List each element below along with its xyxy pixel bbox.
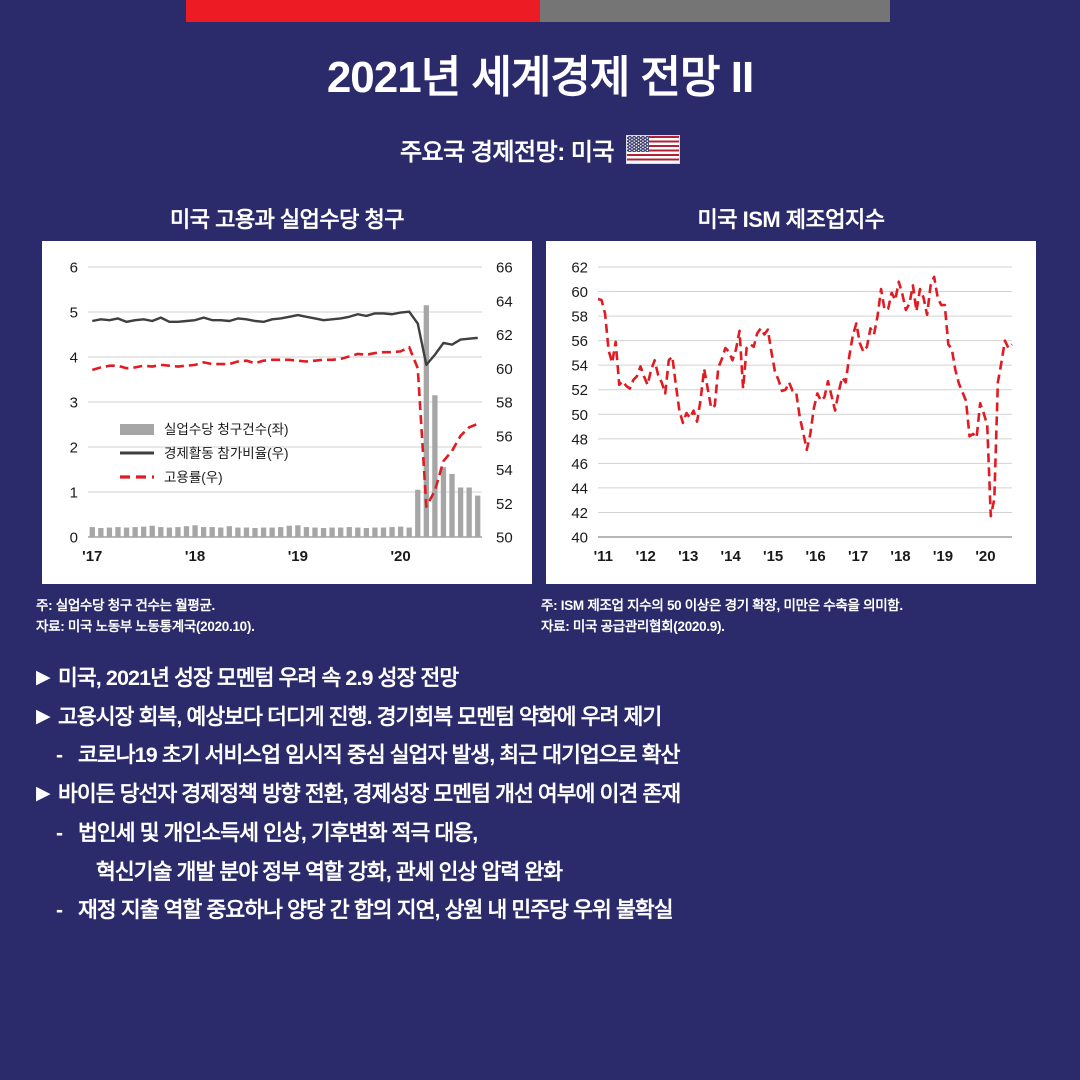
x-axis-tick: '13 xyxy=(678,548,698,565)
y-axis-tick: 58 xyxy=(571,309,588,326)
y-axis-right-tick: 64 xyxy=(496,293,513,310)
y-axis-right-tick: 62 xyxy=(496,327,513,344)
y-axis-tick: 44 xyxy=(571,480,588,497)
claims-bar xyxy=(107,528,112,537)
claims-bar xyxy=(304,527,309,537)
claims-bar xyxy=(90,527,95,537)
y-axis-right-tick: 54 xyxy=(496,462,513,479)
top-accent-bar-gray xyxy=(540,0,890,22)
x-axis-tick: '20 xyxy=(390,548,410,565)
bullet-text: 미국, 2021년 성장 모멘텀 우려 속 2.9 성장 전망 xyxy=(58,668,1046,690)
y-axis-tick: 46 xyxy=(571,456,588,473)
bullet-triangle-icon: ▶ xyxy=(36,707,58,727)
bullet-text: 재정 지출 역할 중요하나 양당 간 합의 지연, 상원 내 민주당 우위 불확… xyxy=(78,900,1046,922)
bullet-item: 혁신기술 개발 분야 정부 역할 강화, 관세 인상 압력 완화 xyxy=(36,862,1046,884)
claims-bar xyxy=(158,527,163,537)
y-axis-tick: 42 xyxy=(571,505,588,522)
y-axis-right-tick: 58 xyxy=(496,395,513,412)
y-axis-right-tick: 56 xyxy=(496,428,513,445)
y-axis-left-tick: 5 xyxy=(70,305,78,322)
claims-bar xyxy=(132,527,137,537)
y-axis-tick: 62 xyxy=(571,260,588,277)
y-axis-left-tick: 1 xyxy=(70,485,78,502)
y-axis-tick: 56 xyxy=(571,333,588,350)
bullet-item: -재정 지출 역할 중요하나 양당 간 합의 지연, 상원 내 민주당 우위 불… xyxy=(36,900,1046,922)
legend-label: 실업수당 청구건수(좌) xyxy=(164,422,289,437)
y-axis-left-tick: 4 xyxy=(70,350,78,367)
claims-bar xyxy=(227,526,232,537)
claims-bar xyxy=(449,474,454,537)
claims-bar xyxy=(415,490,420,537)
page-subtitle: 주요국 경제전망: 미국 xyxy=(400,132,614,167)
claims-bar xyxy=(329,528,334,537)
claims-bar xyxy=(269,528,274,537)
bullet-item: -코로나19 초기 서비스업 임시직 중심 실업자 발생, 최근 대기업으로 확… xyxy=(36,745,1046,767)
claims-bar xyxy=(124,528,129,537)
x-axis-tick: '18 xyxy=(185,548,205,565)
bullet-text: 바이든 당선자 경제정책 방향 전환, 경제성장 모멘텀 개선 여부에 이견 존… xyxy=(58,784,1046,806)
bullet-dash-icon: - xyxy=(56,823,78,845)
legend-swatch-bar xyxy=(120,424,154,435)
claims-bar xyxy=(252,528,257,537)
y-axis-tick: 40 xyxy=(571,530,588,547)
claims-bar xyxy=(364,528,369,537)
bullet-dash-icon: - xyxy=(56,900,78,922)
claims-bar xyxy=(278,527,283,537)
y-axis-left-tick: 2 xyxy=(70,440,78,457)
claims-bar xyxy=(141,527,146,537)
claims-bar xyxy=(175,527,180,537)
claims-bar xyxy=(475,496,480,537)
y-axis-tick: 50 xyxy=(571,407,588,424)
chart-panel-employment: 0123456505254565860626466'17'18'19'20실업수… xyxy=(42,241,532,584)
chart-notes-left: 주: 실업수당 청구 건수는 월평균. 자료: 미국 노동부 노동통계국(202… xyxy=(36,596,536,638)
note-line: 자료: 미국 공급관리협회(2020.9). xyxy=(541,617,1041,638)
bullet-item: -법인세 및 개인소득세 인상, 기후변화 적극 대응, xyxy=(36,823,1046,845)
x-axis-tick: '19 xyxy=(288,548,308,565)
chart-panel-ism: 404244464850525456586062'11'12'13'14'15'… xyxy=(546,241,1036,584)
y-axis-tick: 52 xyxy=(571,382,588,399)
claims-bar xyxy=(407,528,412,537)
bullet-triangle-icon: ▶ xyxy=(36,668,58,688)
ism-manufacturing-chart: 404244464850525456586062'11'12'13'14'15'… xyxy=(546,241,1036,584)
claims-bar xyxy=(201,527,206,537)
claims-bar xyxy=(441,467,446,537)
x-axis-tick: '11 xyxy=(594,548,613,565)
bullet-text: 법인세 및 개인소득세 인상, 기후변화 적극 대응, xyxy=(78,823,1046,845)
note-line: 자료: 미국 노동부 노동통계국(2020.10). xyxy=(36,617,536,638)
y-axis-right-tick: 60 xyxy=(496,361,513,378)
page-title: 2021년 세계경제 전망 II xyxy=(0,54,1080,102)
claims-bar xyxy=(321,528,326,537)
chart-title-left: 미국 고용과 실업수당 청구 xyxy=(42,202,532,234)
claims-bar xyxy=(381,528,386,537)
bullet-dash-icon: - xyxy=(56,745,78,767)
legend-label: 고용률(우) xyxy=(164,470,223,485)
employment-claims-chart: 0123456505254565860626466'17'18'19'20실업수… xyxy=(42,241,532,584)
y-axis-tick: 54 xyxy=(571,358,588,375)
slide-root: 2021년 세계경제 전망 II 주요국 경제전망: 미국 미국 고용과 실업수… xyxy=(0,0,1080,1080)
y-axis-left-tick: 6 xyxy=(70,260,78,277)
claims-bar xyxy=(295,525,300,537)
x-axis-tick: '16 xyxy=(805,548,825,565)
claims-bar xyxy=(458,488,463,538)
y-axis-left-tick: 3 xyxy=(70,395,78,412)
claims-bar xyxy=(466,488,471,538)
claims-bar xyxy=(192,525,197,537)
x-axis-tick: '18 xyxy=(890,548,910,565)
claims-bar xyxy=(312,528,317,537)
legend-label: 경제활동 참가비율(우) xyxy=(164,446,289,461)
claims-bar xyxy=(355,528,360,537)
chart-notes-right: 주: ISM 제조업 지수의 50 이상은 경기 확장, 미만은 수축을 의미함… xyxy=(541,596,1041,638)
claims-bar xyxy=(372,528,377,537)
claims-bar xyxy=(287,526,292,537)
claims-bar xyxy=(150,526,155,537)
bullet-item: ▶고용시장 회복, 예상보다 더디게 진행. 경기회복 모멘텀 약화에 우려 제… xyxy=(36,707,1046,729)
x-axis-tick: '19 xyxy=(933,548,953,565)
x-axis-tick: '12 xyxy=(636,548,656,565)
claims-bar xyxy=(398,527,403,537)
chart-title-right: 미국 ISM 제조업지수 xyxy=(546,202,1036,234)
y-axis-right-tick: 66 xyxy=(496,260,513,277)
claims-bar xyxy=(244,528,249,537)
bullet-list: ▶미국, 2021년 성장 모멘텀 우려 속 2.9 성장 전망▶고용시장 회복… xyxy=(36,668,1046,939)
note-line: 주: ISM 제조업 지수의 50 이상은 경기 확장, 미만은 수축을 의미함… xyxy=(541,596,1041,617)
bullet-text: 혁신기술 개발 분야 정부 역할 강화, 관세 인상 압력 완화 xyxy=(96,862,1046,884)
claims-bar xyxy=(347,527,352,537)
x-axis-tick: '17 xyxy=(82,548,102,565)
y-axis-right-tick: 50 xyxy=(496,530,513,547)
claims-bar xyxy=(210,527,215,537)
claims-bar xyxy=(389,527,394,537)
claims-bar xyxy=(432,395,437,537)
claims-bar xyxy=(235,528,240,537)
x-axis-tick: '14 xyxy=(721,548,742,565)
top-accent-bar xyxy=(186,0,890,22)
bullet-item: ▶미국, 2021년 성장 모멘텀 우려 속 2.9 성장 전망 xyxy=(36,668,1046,690)
claims-bar xyxy=(261,528,266,537)
y-axis-right-tick: 52 xyxy=(496,496,513,513)
bullet-text: 고용시장 회복, 예상보다 더디게 진행. 경기회복 모멘텀 약화에 우려 제기 xyxy=(58,707,1046,729)
claims-bar xyxy=(218,528,223,537)
y-axis-left-tick: 0 xyxy=(70,530,78,547)
x-axis-tick: '20 xyxy=(975,548,995,565)
y-axis-tick: 60 xyxy=(571,284,588,301)
bullet-item: ▶바이든 당선자 경제정책 방향 전환, 경제성장 모멘텀 개선 여부에 이견 … xyxy=(36,784,1046,806)
subtitle-row: 주요국 경제전망: 미국 xyxy=(0,132,1080,167)
y-axis-tick: 48 xyxy=(571,431,588,448)
claims-bar xyxy=(98,528,103,537)
top-accent-bar-red xyxy=(186,0,540,22)
claims-bar xyxy=(167,528,172,537)
note-line: 주: 실업수당 청구 건수는 월평균. xyxy=(36,596,536,617)
ism-index-line xyxy=(598,277,1012,516)
flag-canton xyxy=(627,136,649,152)
claims-bar xyxy=(184,526,189,537)
claims-bar xyxy=(338,528,343,537)
x-axis-tick: '15 xyxy=(763,548,783,565)
x-axis-tick: '17 xyxy=(848,548,868,565)
claims-bar xyxy=(115,527,120,537)
bullet-triangle-icon: ▶ xyxy=(36,784,58,804)
us-flag-icon xyxy=(626,135,680,164)
bullet-text: 코로나19 초기 서비스업 임시직 중심 실업자 발생, 최근 대기업으로 확산 xyxy=(78,745,1046,767)
